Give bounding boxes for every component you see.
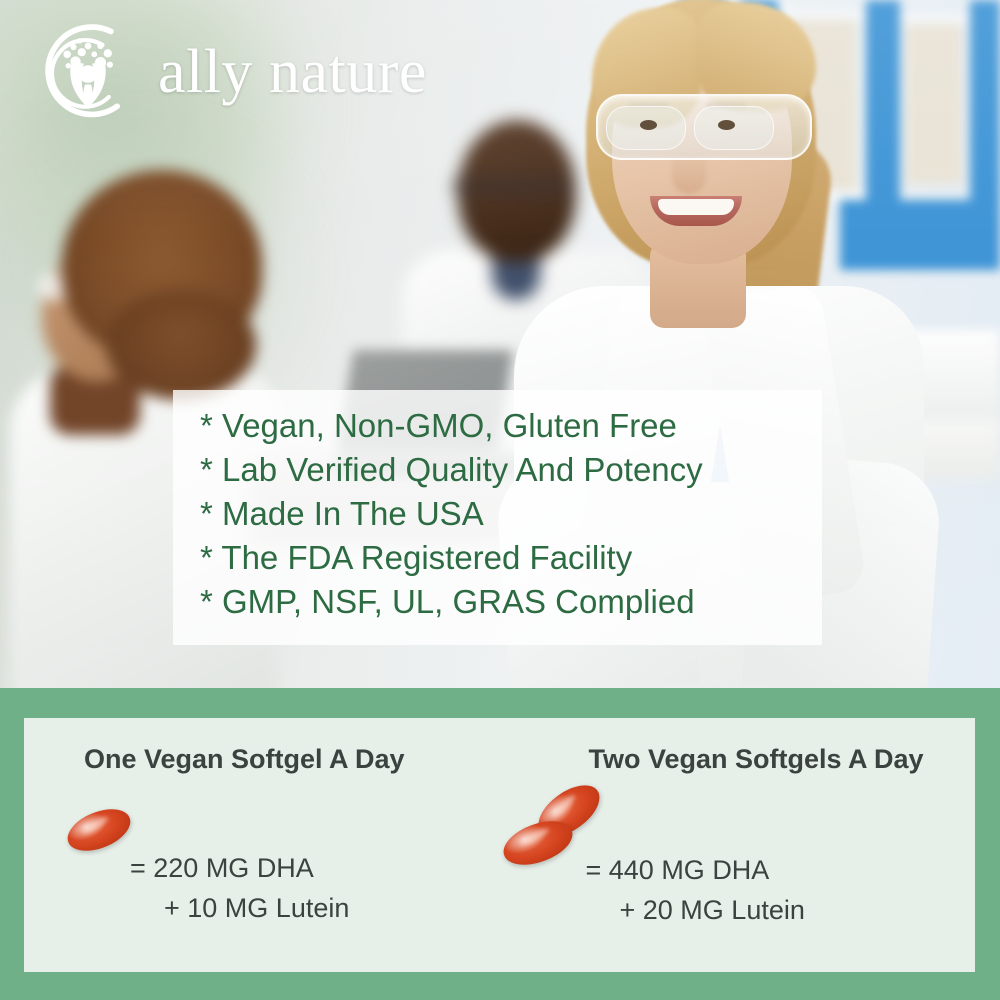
brand-logo: ally nature — [36, 20, 427, 124]
dosage-column-one: One Vegan Softgel A Day = 220 MG DHA + 1… — [24, 718, 500, 972]
feature-item: * The FDA Registered Facility — [173, 536, 822, 580]
dosage-line-lutein: + 20 MG Lutein — [586, 890, 805, 930]
dosage-line-dha: = 220 MG DHA — [130, 853, 314, 883]
feature-list-panel: * Vegan, Non-GMO, Gluten Free * Lab Veri… — [173, 390, 822, 645]
dosage-line-dha: = 440 MG DHA — [586, 855, 770, 885]
dosage-line-lutein: + 10 MG Lutein — [130, 888, 349, 928]
dosage-amounts: = 440 MG DHA + 20 MG Lutein — [586, 850, 805, 930]
feature-item: * Made In The USA — [173, 492, 822, 536]
feature-item: * Vegan, Non-GMO, Gluten Free — [173, 404, 822, 448]
logo-leaf-person-icon — [36, 20, 140, 124]
dosage-column-two: Two Vegan Softgels A Day = 440 MG DHA + … — [500, 718, 976, 972]
product-infographic: ally nature * Vegan, Non-GMO, Gluten Fre… — [0, 0, 1000, 1000]
lab-photo: ally nature * Vegan, Non-GMO, Gluten Fre… — [0, 0, 1000, 688]
feature-item: * GMP, NSF, UL, GRAS Complied — [173, 580, 822, 624]
dosage-title: One Vegan Softgel A Day — [84, 744, 405, 775]
feature-item: * Lab Verified Quality And Potency — [173, 448, 822, 492]
brand-name: ally nature — [158, 41, 427, 103]
dosage-columns: One Vegan Softgel A Day = 220 MG DHA + 1… — [24, 718, 975, 972]
dosage-amounts: = 220 MG DHA + 10 MG Lutein — [130, 848, 349, 928]
dosage-title: Two Vegan Softgels A Day — [589, 744, 924, 775]
